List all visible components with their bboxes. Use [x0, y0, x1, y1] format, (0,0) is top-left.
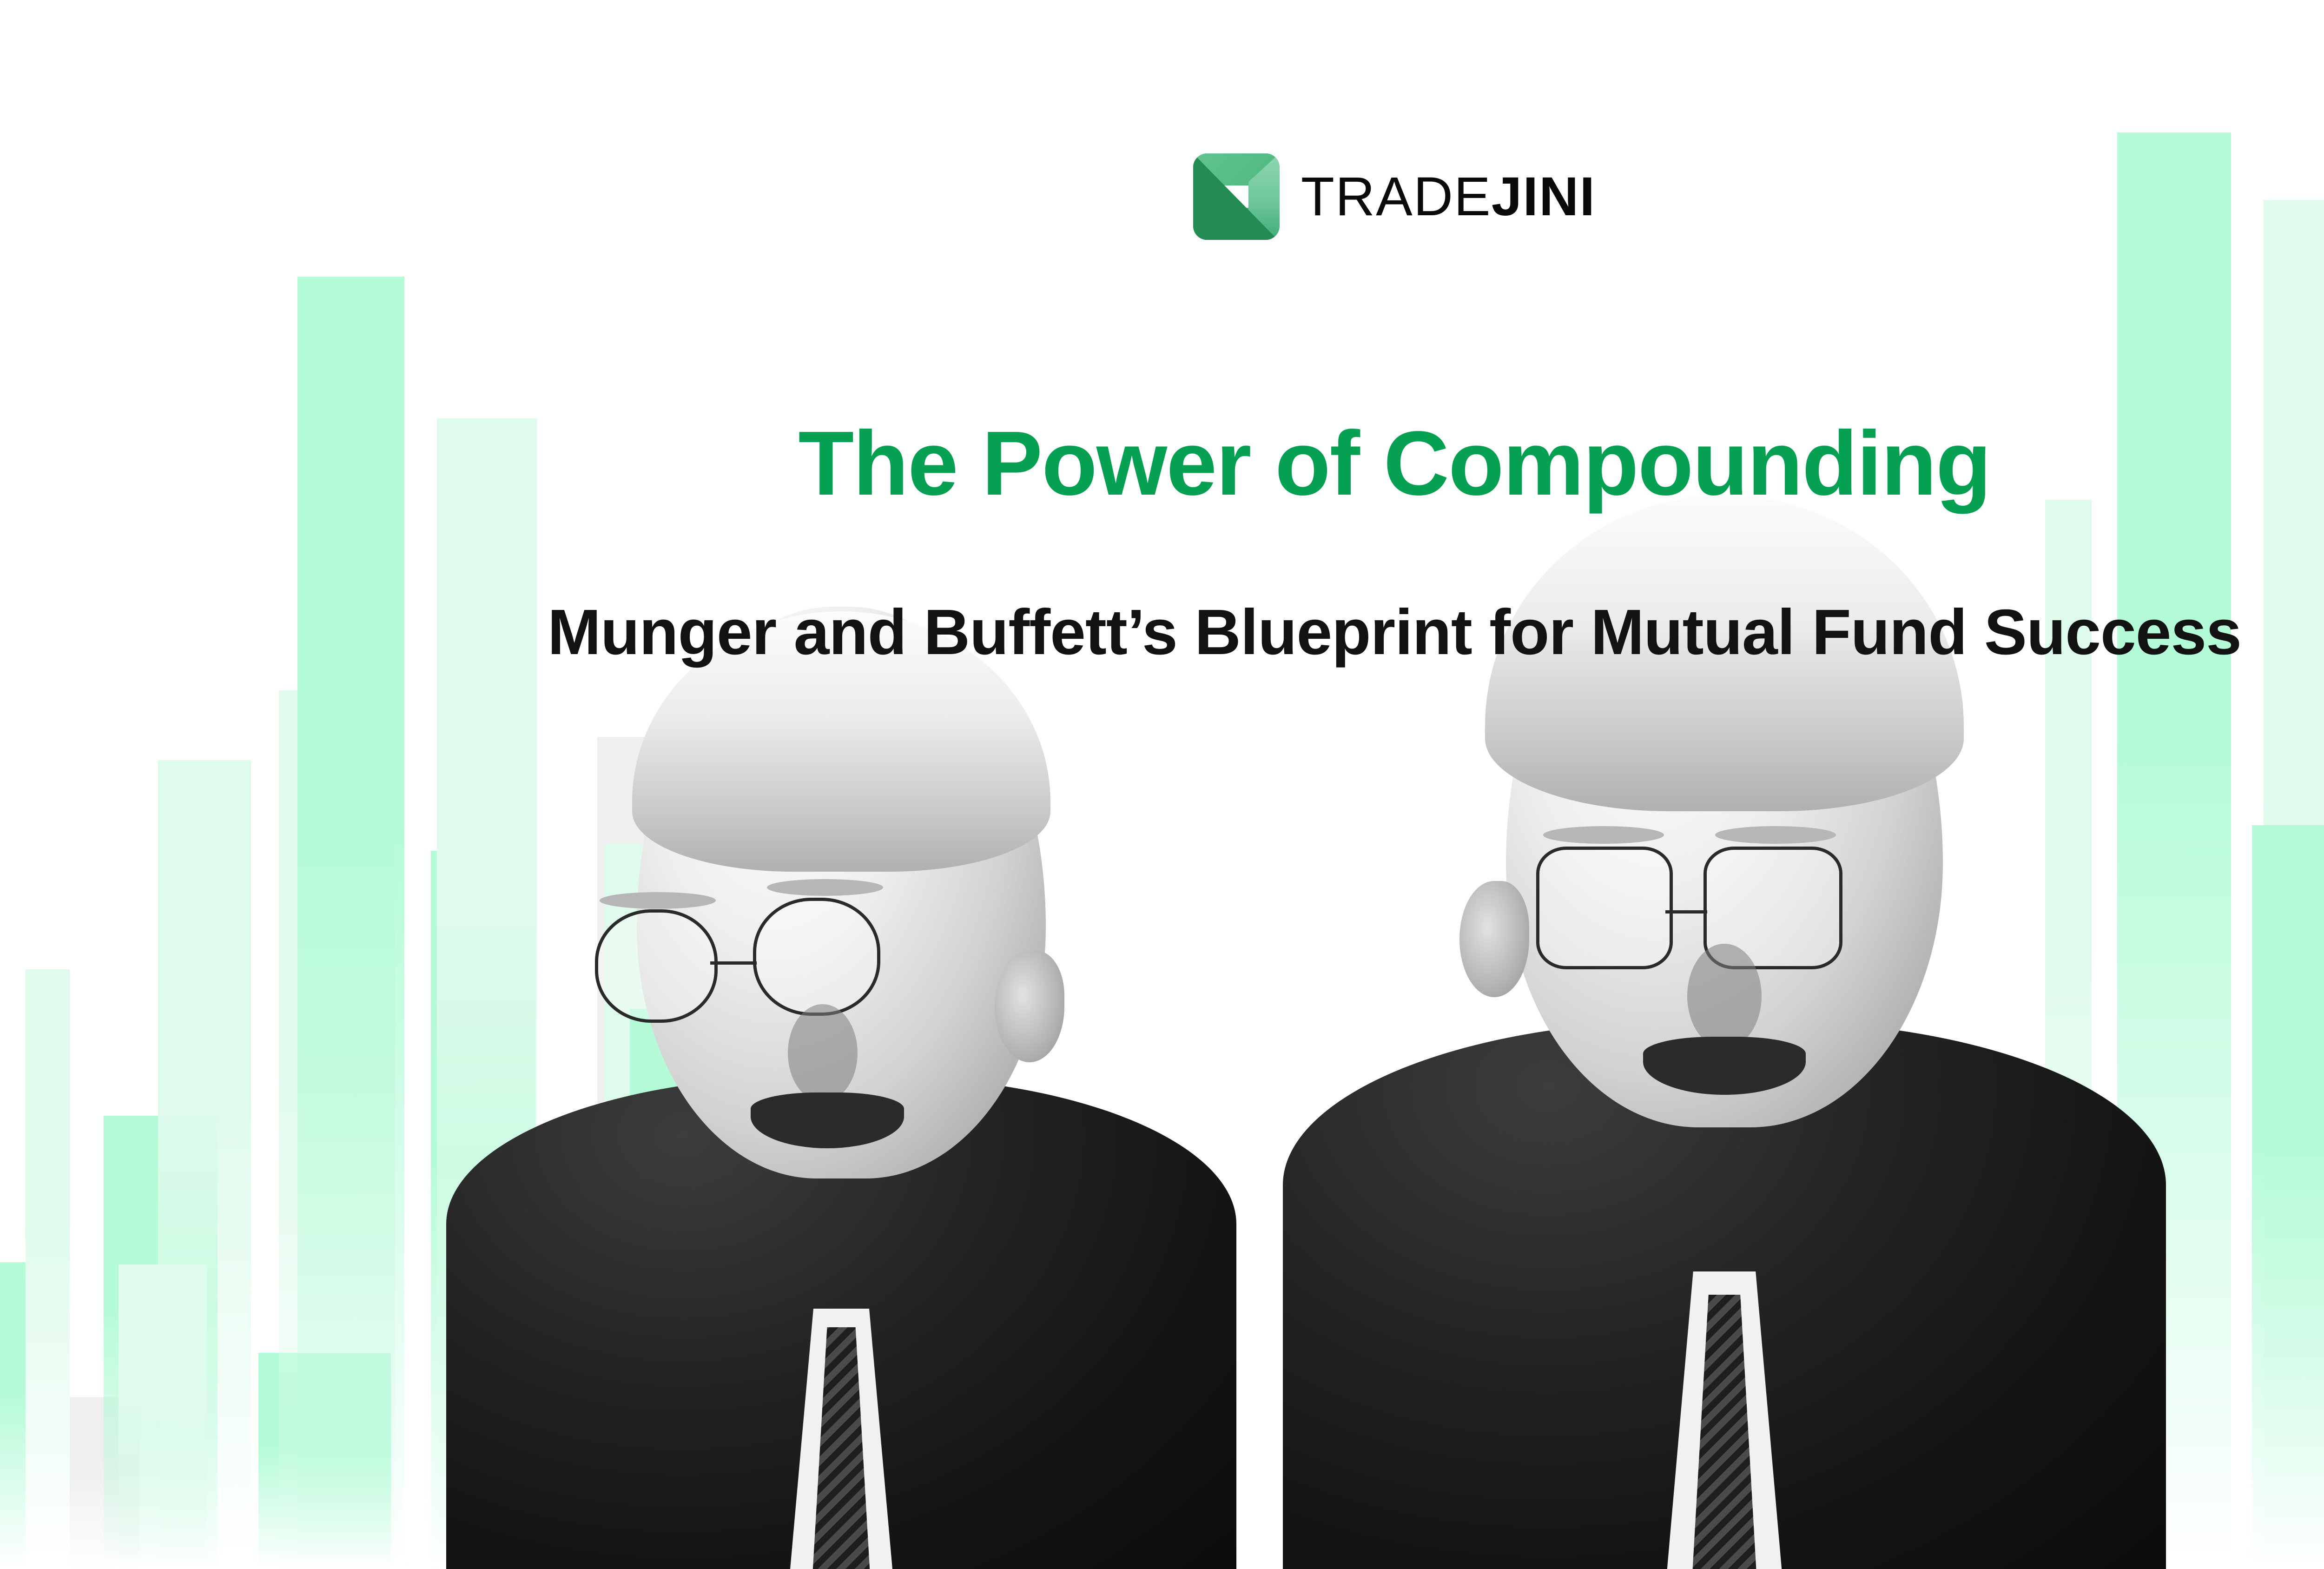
eyeglass-bridge — [710, 961, 757, 965]
warren-buffett-portrait — [1283, 546, 2166, 1569]
eyeglass-lens — [1703, 847, 1842, 969]
chart-bar — [597, 737, 695, 1569]
page-title: The Power of Compounding — [0, 414, 2324, 513]
eyeglass-lens — [1536, 847, 1673, 969]
mouth-shape — [1643, 1037, 1806, 1095]
chart-bar — [70, 1397, 139, 1569]
eyebrow-shape — [767, 879, 883, 896]
tradejini-wordmark: TRADEJINI — [1301, 169, 1596, 224]
chart-bar — [431, 851, 535, 1569]
wordmark-trade: TRADE — [1301, 166, 1492, 227]
chart-bar — [437, 418, 537, 1569]
eyeglass-bridge — [1665, 910, 1707, 914]
wordmark-jini: JINI — [1492, 166, 1596, 227]
ear-shape — [995, 951, 1064, 1062]
chart-bar — [119, 1264, 207, 1569]
shirt-shape — [1594, 1271, 1855, 1569]
eyeglass-lens — [753, 898, 880, 1016]
eyebrow-shape — [1715, 826, 1836, 844]
ear-shape — [1459, 881, 1529, 997]
head-shape — [637, 607, 1046, 1178]
necktie-shape — [802, 1327, 881, 1569]
eyeglass-lens — [595, 909, 718, 1023]
necktie-shape — [1680, 1295, 1769, 1569]
page-subtitle: Munger and Buffett’s Blueprint for Mutua… — [0, 597, 2324, 668]
chart-bar — [604, 844, 704, 1569]
neck-shape — [741, 927, 941, 1123]
chart-bar — [2117, 132, 2231, 1569]
charlie-munger-portrait — [446, 625, 1236, 1569]
chart-bar — [0, 1262, 26, 1569]
chart-bar — [158, 760, 251, 1569]
mouth-shape — [751, 1092, 904, 1148]
eyebrow-shape — [1543, 826, 1664, 844]
nose-shape — [788, 1004, 858, 1102]
suit-shape — [446, 1076, 1236, 1569]
suit-shape — [1283, 1020, 2166, 1569]
chart-bar — [2264, 200, 2324, 1569]
chart-bar — [258, 1353, 391, 1569]
chart-bar — [26, 969, 70, 1569]
shirt-shape — [725, 1309, 957, 1569]
neck-shape — [1618, 862, 1831, 1062]
poster-canvas: TRADEJINI The Power of Compounding Munge… — [0, 0, 2324, 1569]
chart-bar — [2252, 825, 2324, 1569]
nose-shape — [1687, 944, 1762, 1048]
chart-bar — [104, 1116, 218, 1569]
eyebrow-shape — [600, 892, 716, 909]
chart-bar — [279, 690, 395, 1569]
tradejini-logo-mark-icon — [1193, 153, 1280, 240]
brand-lockup: TRADEJINI — [0, 153, 2324, 240]
chart-bar — [630, 1009, 713, 1569]
